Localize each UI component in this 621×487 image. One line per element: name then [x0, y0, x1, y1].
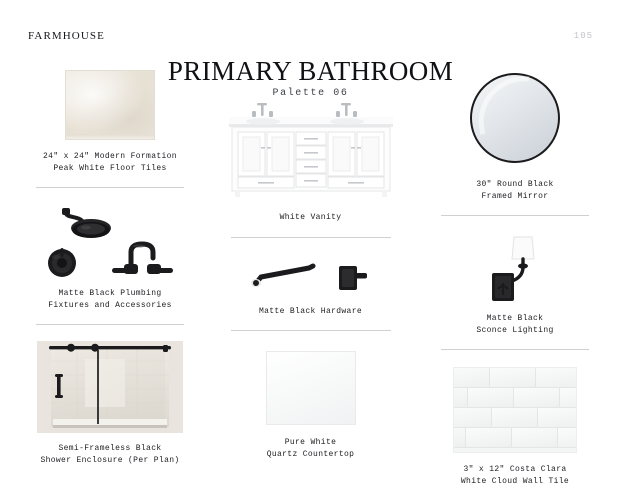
product-shower-enclosure: Semi-Frameless Black Shower Enclosure (P… — [18, 341, 202, 466]
product-countertop: Pure White Quartz Countertop — [218, 351, 403, 460]
mirror-caption: 30" Round Black Framed Mirror — [476, 179, 553, 202]
product-wall-tile: 3" x 12" Costa Clara White Cloud Wall Ti… — [424, 367, 606, 487]
plumbing-caption: Matte Black Plumbing Fixtures and Access… — [48, 288, 172, 311]
hardware-caption: Matte Black Hardware — [259, 306, 362, 318]
product-mirror: 30" Round Black Framed Mirror — [424, 70, 606, 216]
section-divider — [36, 324, 184, 325]
round-black-mirror-image — [467, 70, 563, 166]
floor-tile-swatch-image — [65, 70, 155, 140]
section-divider — [441, 215, 589, 216]
product-plumbing-fixtures: Matte Black Plumbing Fixtures and Access… — [18, 204, 202, 325]
product-floor-tile: 24" x 24" Modern Formation Peak White Fl… — [18, 70, 202, 188]
product-sconce: Matte Black Sconce Lighting — [424, 233, 606, 350]
collection-name: FARMHOUSE — [28, 30, 105, 42]
mood-board-page: FARMHOUSE 105 PRIMARY BATHROOM Palette 0… — [0, 0, 621, 480]
subway-wall-tile-image — [453, 367, 577, 453]
countertop-caption: Pure White Quartz Countertop — [267, 437, 355, 460]
shower-enclosure-image — [37, 341, 183, 433]
vanity-caption: White Vanity — [280, 212, 342, 224]
plumbing-fixtures-image — [36, 204, 184, 278]
quartz-countertop-swatch-image — [266, 351, 356, 425]
matte-black-hardware-image — [247, 258, 375, 294]
section-divider — [36, 187, 184, 188]
sconce-caption: Matte Black Sconce Lighting — [476, 313, 553, 336]
black-sconce-image — [484, 233, 546, 303]
shower-enclosure-caption: Semi-Frameless Black Shower Enclosure (P… — [40, 443, 179, 466]
product-hardware: Matte Black Hardware — [218, 258, 403, 332]
section-divider — [231, 330, 391, 331]
right-column: 30" Round Black Framed Mirror Matt — [424, 70, 606, 487]
page-number: 105 — [574, 31, 593, 41]
center-column: White Vanity Matte Black Hardware — [218, 100, 403, 460]
section-divider — [231, 237, 391, 238]
section-divider — [441, 349, 589, 350]
floor-tile-caption: 24" x 24" Modern Formation Peak White Fl… — [43, 151, 177, 174]
left-column: 24" x 24" Modern Formation Peak White Fl… — [18, 70, 202, 466]
wall-tile-caption: 3" x 12" Costa Clara White Cloud Wall Ti… — [461, 464, 569, 487]
product-vanity: White Vanity — [218, 100, 403, 238]
white-vanity-image — [227, 100, 395, 198]
